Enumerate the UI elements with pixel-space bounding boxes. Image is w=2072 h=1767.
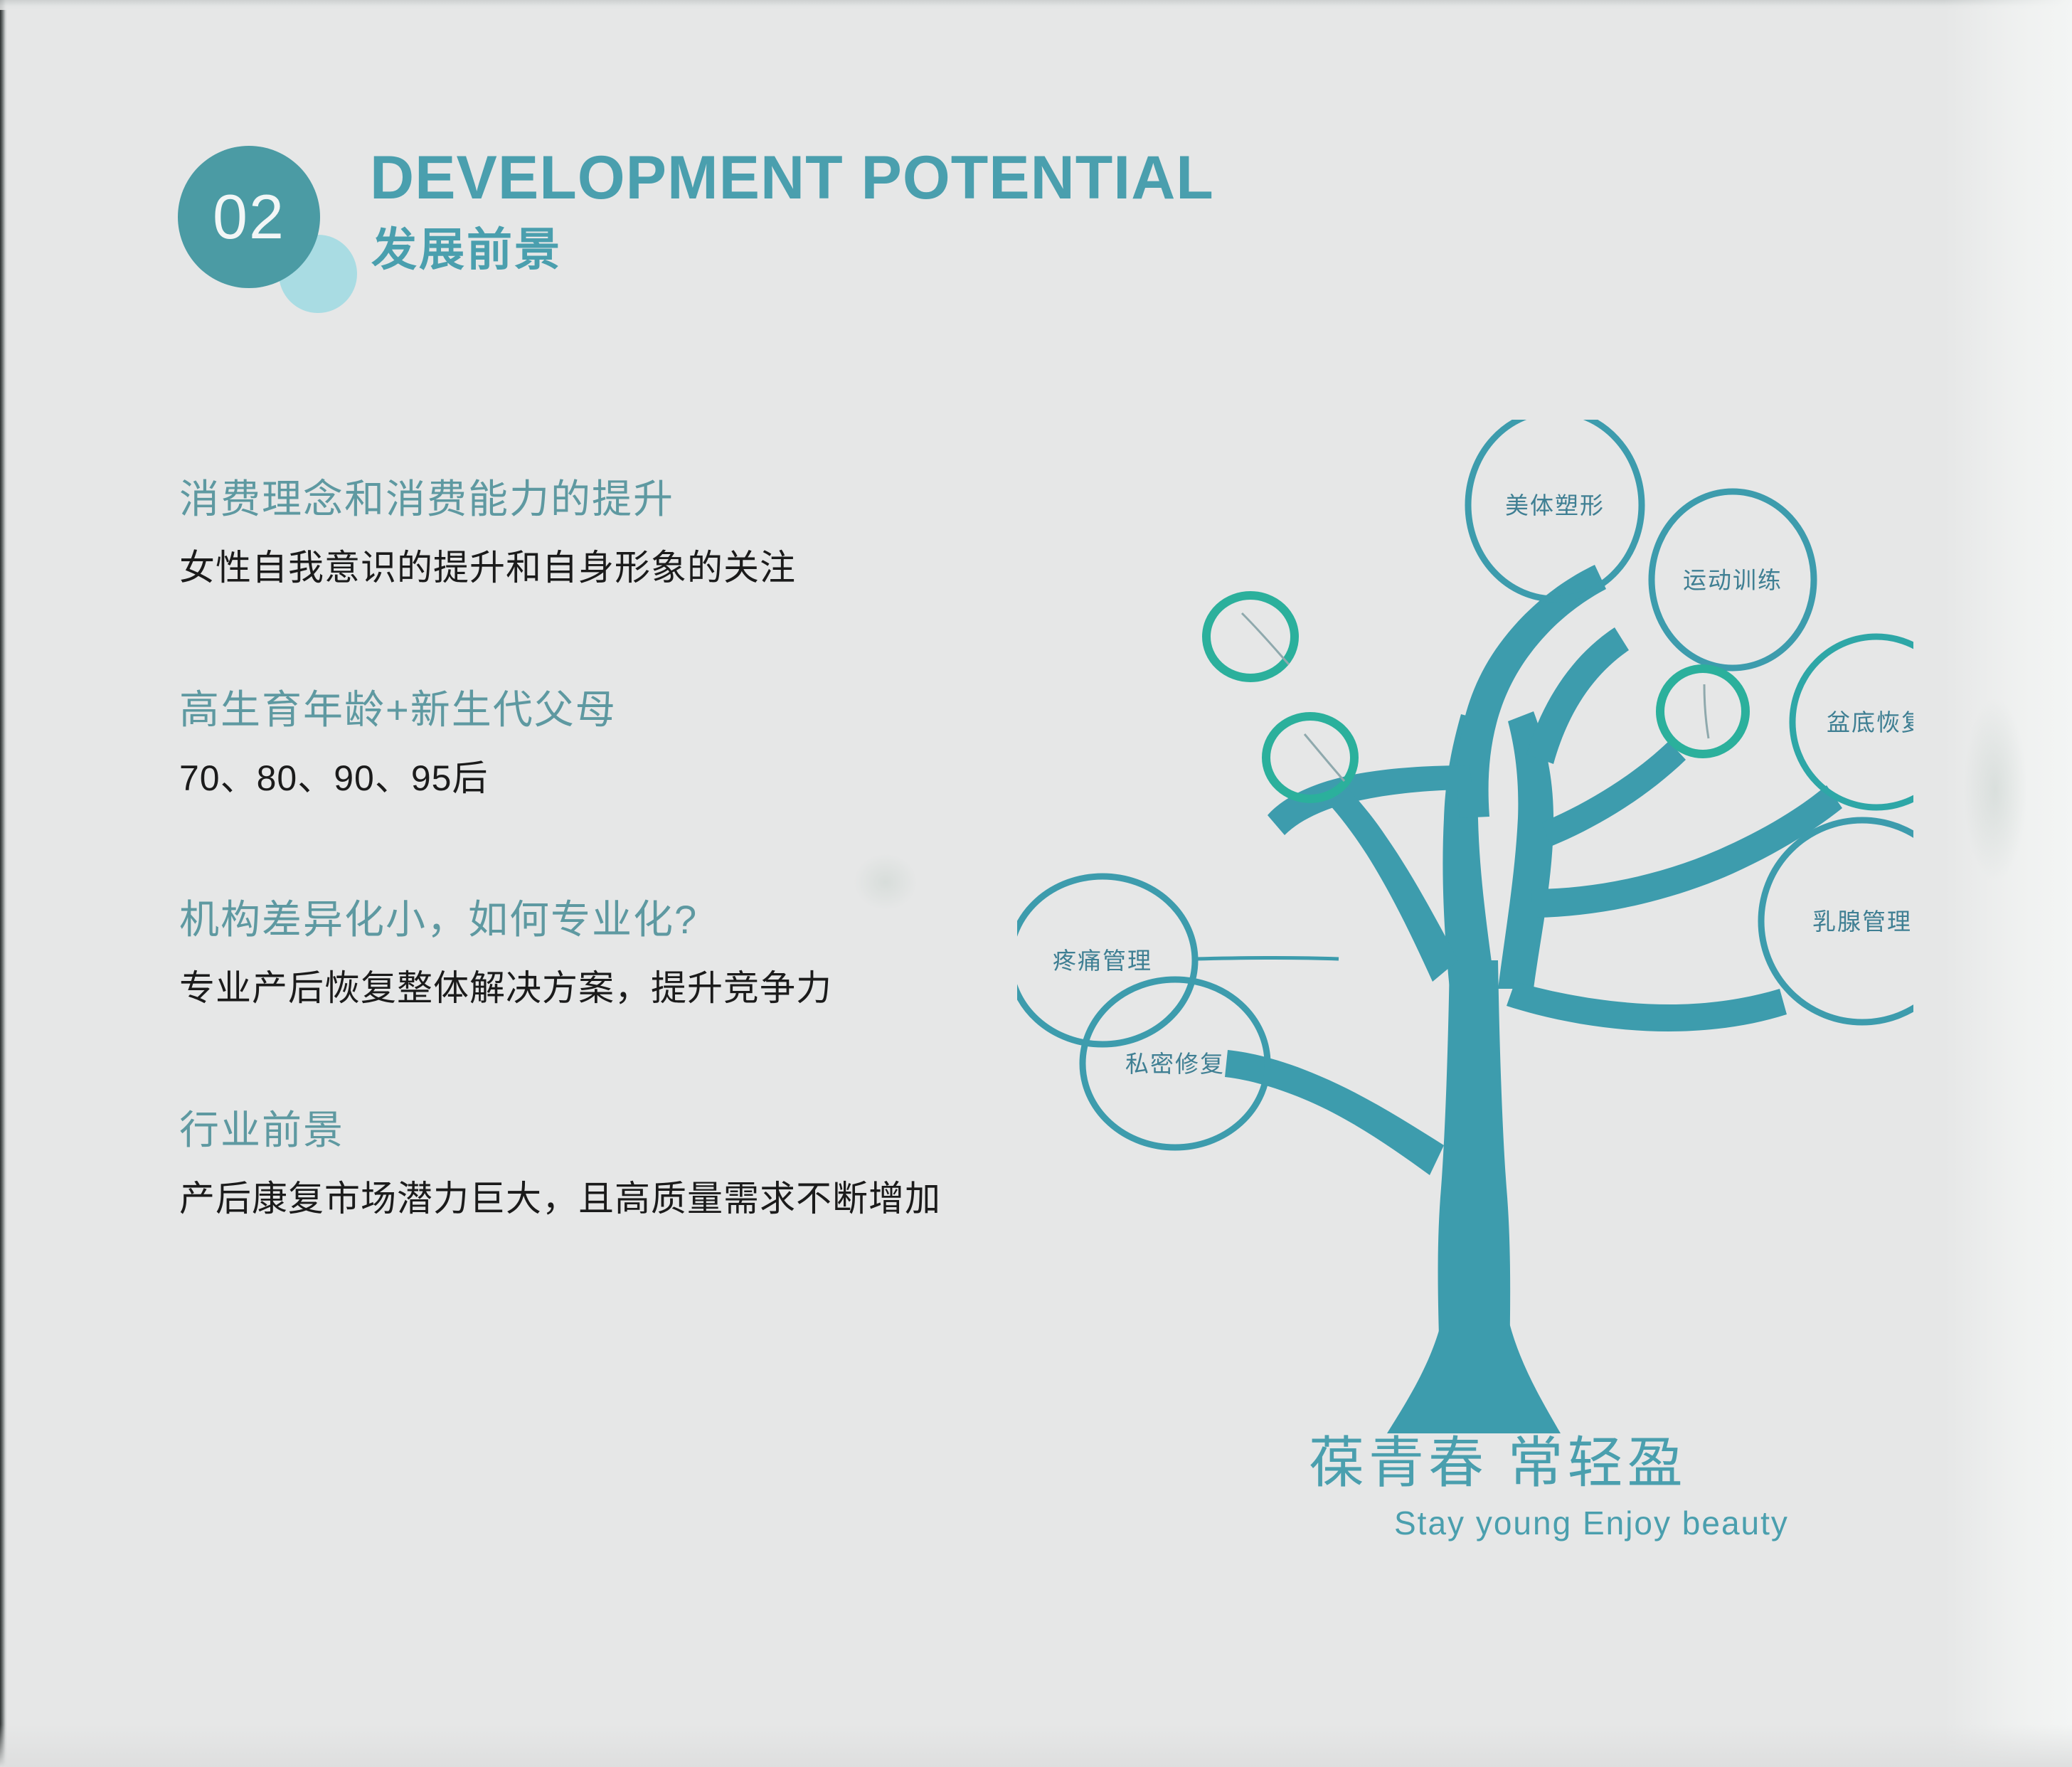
block-heading: 行业前景 [179, 1100, 1019, 1160]
tree-node-circle: 美体塑形 [1468, 420, 1642, 599]
slide-root: 02 DEVELOPMENT POTENTIAL 发展前景 消费理念和消费能力的… [0, 0, 2072, 1767]
content-block: 机构差异化小，如何专业化? 专业产后恢复整体解决方案，提升竞争力 [179, 890, 1019, 1017]
block-subtext: 专业产后恢复整体解决方案，提升竞争力 [179, 961, 1019, 1017]
content-block: 行业前景 产后康复市场潜力巨大，且高质量需求不断增加 [179, 1100, 1019, 1227]
accent-ring-icon [1660, 669, 1746, 754]
tree-node-label: 运动训练 [1683, 567, 1783, 593]
tagline-english: Stay young Enjoy beauty [1394, 1502, 1949, 1545]
content-block: 消费理念和消费能力的提升 女性自我意识的提升和自身形象的关注 [179, 469, 1019, 596]
scan-edge-left [0, 0, 7, 1767]
block-subtext: 产后康复市场潜力巨大，且高质量需求不断增加 [179, 1172, 1019, 1227]
content-block: 高生育年龄+新生代父母 70、80、90、95后 [179, 680, 1019, 807]
block-heading: 消费理念和消费能力的提升 [179, 469, 1019, 529]
accent-ring-icon [1266, 716, 1354, 799]
slide-header: 02 DEVELOPMENT POTENTIAL 发展前景 [178, 146, 1316, 317]
page-title-chinese: 发展前景 [371, 221, 562, 280]
accent-ring-icon [1206, 595, 1295, 678]
block-subtext: 70、80、90、95后 [179, 751, 1019, 807]
block-subtext: 女性自我意识的提升和自身形象的关注 [179, 541, 1019, 596]
tree-node-circle: 疼痛管理 [1017, 876, 1195, 1044]
tree-node-circle: 盆底恢复 [1792, 637, 1913, 807]
block-heading: 机构差异化小，如何专业化? [179, 890, 1019, 950]
section-badge: 02 [178, 146, 356, 317]
tree-node-label: 疼痛管理 [1053, 948, 1152, 974]
scan-smudge [1963, 697, 2027, 882]
tree-diagram: 美体塑形 运动训练 盆底恢复 乳腺管理 疼痛管理 [1017, 420, 1913, 1437]
tree-node-label: 私密修复 [1125, 1051, 1225, 1077]
block-heading: 高生育年龄+新生代父母 [179, 680, 1019, 740]
tree-node-label: 美体塑形 [1505, 492, 1605, 519]
scan-edge-right [1944, 0, 2072, 1767]
badge-circle: 02 [178, 146, 320, 288]
page-title-english: DEVELOPMENT POTENTIAL [370, 140, 1214, 217]
tree-trunk-and-branches [1225, 565, 1842, 1433]
scan-edge-bottom [0, 1724, 2072, 1767]
brand-tagline: 葆青春 常轻盈 Stay young Enjoy beauty [1309, 1430, 1949, 1544]
tree-node-label: 盆底恢复 [1827, 709, 1913, 736]
tree-node-circle: 运动训练 [1652, 492, 1814, 668]
badge-number: 02 [213, 186, 285, 248]
scan-edge-top [0, 0, 2072, 10]
content-column: 消费理念和消费能力的提升 女性自我意识的提升和自身形象的关注 高生育年龄+新生代… [179, 469, 1019, 1226]
tree-connector-line [1195, 958, 1339, 960]
tree-node-circle: 乳腺管理 [1761, 820, 1913, 1022]
tree-node-label: 乳腺管理 [1812, 908, 1912, 935]
tagline-chinese: 葆青春 常轻盈 [1309, 1430, 1949, 1497]
